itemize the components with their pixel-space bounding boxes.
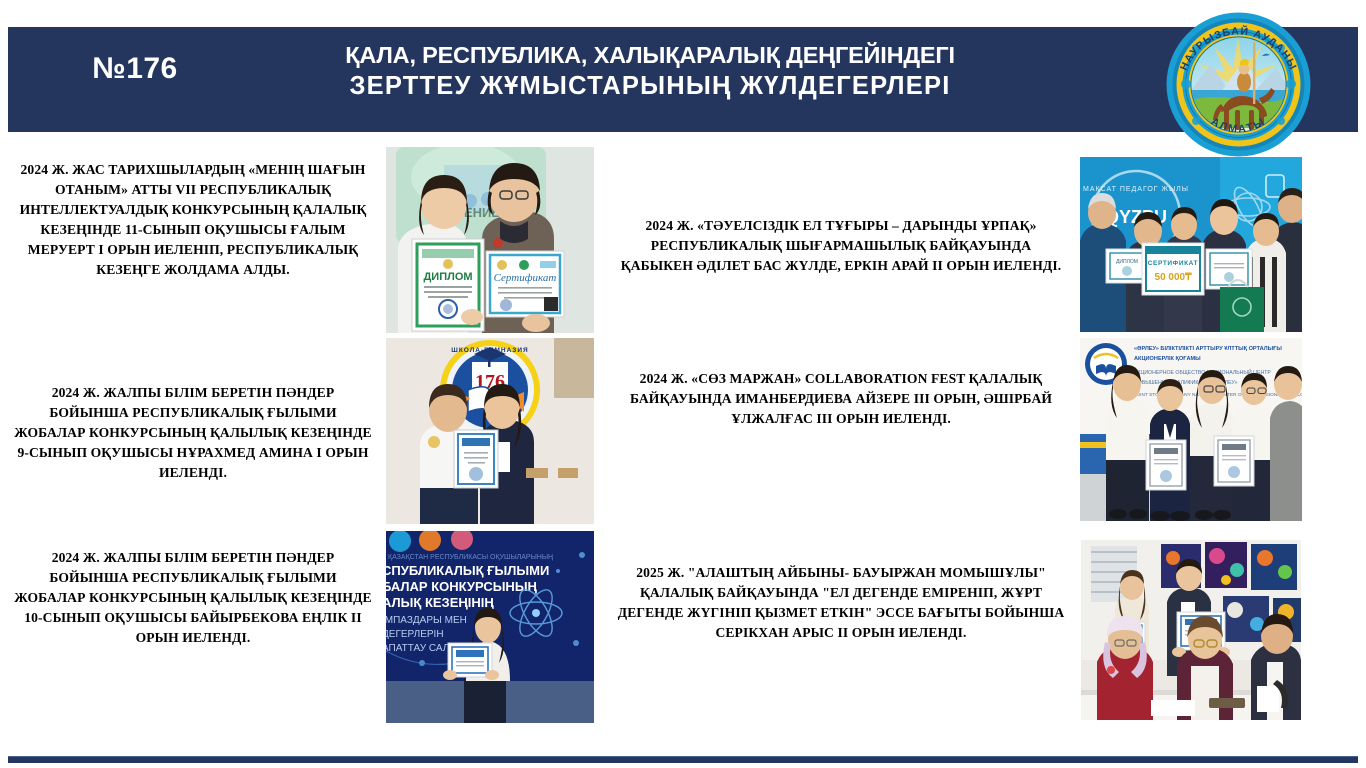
photo-group-certificate-50000: МАҚСАТ ПЕДАГОГ ЖЫЛЫ QYZPU — [1080, 157, 1302, 332]
svg-text:ІМПАЗДАРЫ МЕН: ІМПАЗДАРЫ МЕН — [386, 615, 467, 626]
svg-text:СЕРТИФИКАТ: СЕРТИФИКАТ — [1148, 260, 1198, 267]
photo-essay-contest-award-ceremony — [1081, 540, 1301, 720]
page-title-line-2: ЗЕРТТЕУ ЖҰМЫСТАРЫНЫҢ ЖҮЛДЕГЕРЛЕРІ — [250, 70, 1050, 103]
presentation-slide: №176 ҚАЛА, РЕСПУБЛИКА, ХАЛЫҚАРАЛЫҚ ДЕҢГЕ… — [0, 0, 1366, 768]
svg-text:«ӨРЛЕУ» БІЛІКТІЛІКТІ АРТТЫРУ Ұ: «ӨРЛЕУ» БІЛІКТІЛІКТІ АРТТЫРУ ҰЛТТЫҚ ОРТА… — [1134, 346, 1282, 352]
page-title-line-1: ҚАЛА, РЕСПУБЛИКА, ХАЛЫҚАРАЛЫҚ ДЕҢГЕЙІНДЕ… — [250, 40, 1050, 70]
svg-text:ДЕГЕРЛЕРІН: ДЕГЕРЛЕРІН — [386, 629, 444, 640]
achievement-text-4: 2024 Ж. «ТӘУЕЛСІЗДІК ЕЛ ТҰҒЫРЫ – ДАРЫНДЫ… — [615, 216, 1067, 276]
achievement-text-3: 2024 Ж. ЖАЛПЫ БІЛІМ БЕРЕТІН ПӘНДЕР БОЙЫН… — [14, 548, 372, 648]
nauryzbay-district-emblem-icon: НАУРЫЗБАЙ АУДАНЫ АЛМАТЫ — [1166, 12, 1311, 157]
page-title: ҚАЛА, РЕСПУБЛИКА, ХАЛЫҚАРАЛЫҚ ДЕҢГЕЙІНДЕ… — [250, 40, 1050, 103]
photo-orleu-center-group-award: «ӨРЛЕУ» БІЛІКТІЛІКТІ АРТТЫРУ ҰЛТТЫҚ ОРТА… — [1080, 338, 1302, 521]
achievement-text-5: 2024 Ж. «СӨЗ МАРЖАН» COLLABORATION FEST … — [615, 369, 1067, 429]
photo-student-teacher-diplomas: ЕНИЕТ ДИПЛОМ — [386, 147, 594, 333]
svg-text:АКЦИОНЕРЛІК ҚОҒАМЫ: АКЦИОНЕРЛІК ҚОҒАМЫ — [1134, 356, 1201, 362]
svg-text:ҚАЗАҚСТАН РЕСПУБЛИКАСЫ ОҚУШЫЛА: ҚАЗАҚСТАН РЕСПУБЛИКАСЫ ОҚУШЫЛАРЫНЫҢ — [388, 554, 553, 561]
svg-text:50 000₸: 50 000₸ — [1155, 272, 1193, 283]
svg-text:АЛЫҚ КЕЗЕҢІНІҢ: АЛЫҚ КЕЗЕҢІНІҢ — [386, 595, 494, 610]
svg-text:БАЛАР КОНКУРСЫНЫҢ: БАЛАР КОНКУРСЫНЫҢ — [386, 579, 538, 594]
svg-text:ШКОЛА-ГИМНАЗИЯ: ШКОЛА-ГИМНАЗИЯ — [451, 347, 528, 354]
footer-bar — [8, 756, 1358, 763]
svg-text:Сертификат: Сертификат — [494, 272, 557, 284]
svg-text:СПУБЛИКАЛЫҚ ҒЫЛЫМИ: СПУБЛИКАЛЫҚ ҒЫЛЫМИ — [386, 563, 549, 578]
photo-school-176-emblem-award: 176 ШКОЛА-ГИМНАЗИЯ SCHOOL-GYMNASIUM — [386, 338, 594, 524]
achievement-text-1: 2024 Ж. ЖАС ТАРИХШЫЛАРДЫҢ «МЕНІҢ ШАҒЫН О… — [14, 160, 372, 280]
svg-text:ДИПЛОМ: ДИПЛОМ — [423, 271, 472, 283]
slide-number: №176 — [40, 52, 230, 86]
photo-stage-scientific-projects-award: ҚАЗАҚСТАН РЕСПУБЛИКАСЫ ОҚУШЫЛАРЫНЫҢ СПУБ… — [386, 531, 594, 723]
achievement-text-6: 2025 Ж. "АЛАШТЫҢ АЙБЫНЫ- БАУЫРЖАН МОМЫШҰ… — [615, 563, 1067, 643]
achievement-text-2: 2024 Ж. ЖАЛПЫ БІЛІМ БЕРЕТІН ПӘНДЕР БОЙЫН… — [14, 383, 372, 483]
svg-text:МАҚСАТ ПЕДАГОГ ЖЫЛЫ: МАҚСАТ ПЕДАГОГ ЖЫЛЫ — [1083, 186, 1189, 193]
svg-text:ДИПЛОМ: ДИПЛОМ — [1116, 259, 1138, 265]
